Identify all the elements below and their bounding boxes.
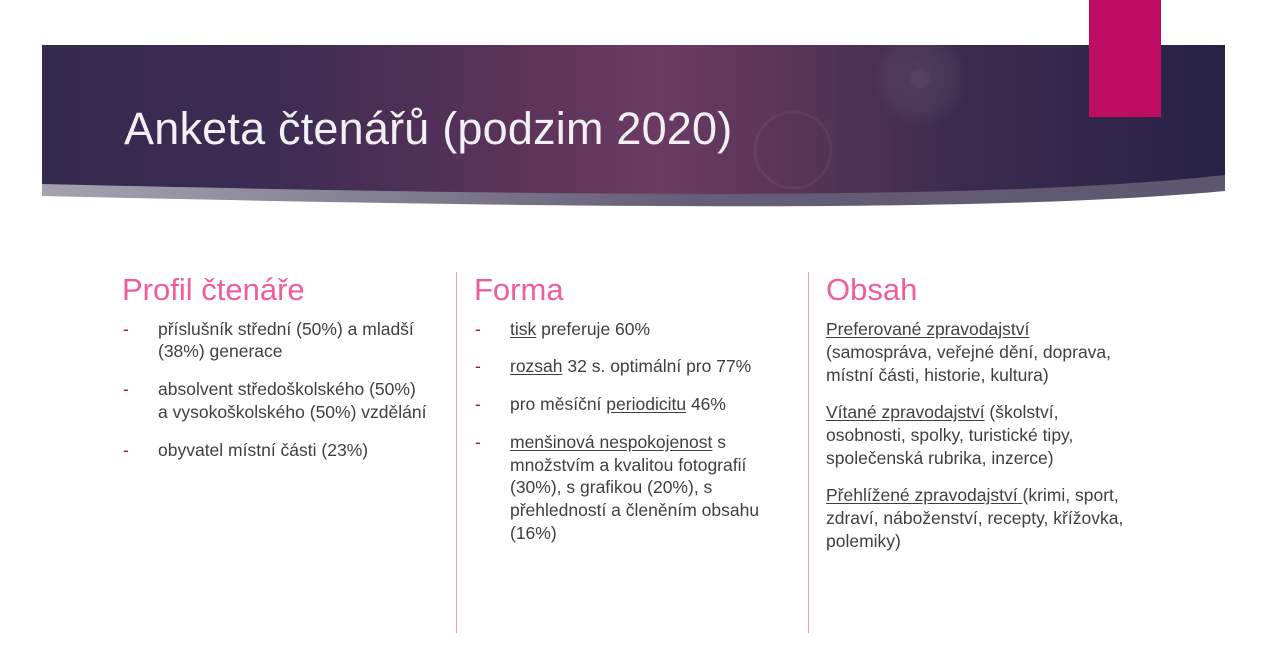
body-text: preferuje 60% bbox=[536, 319, 650, 339]
column-heading: Profil čtenáře bbox=[122, 272, 440, 308]
bullet-item: -příslušník střední (50%) a mladší (38%)… bbox=[122, 318, 440, 364]
body-text: příslušník střední (50%) a mladší (38%) … bbox=[158, 319, 414, 362]
column-divider-2 bbox=[808, 272, 809, 633]
body-text: a vysokoškolského (50%) vzdělání bbox=[158, 402, 426, 422]
column-divider-1 bbox=[456, 272, 457, 633]
body-text: 46% bbox=[686, 394, 726, 414]
column-heading: Forma bbox=[474, 272, 794, 308]
bullet-item: -rozsah 32 s. optimální pro 77% bbox=[474, 355, 794, 378]
banner-swoosh bbox=[42, 148, 1225, 206]
paragraph-list: Preferované zpravodajství (samospráva, v… bbox=[826, 318, 1126, 554]
bullet-item: -absolvent středoškolského (50%)a vysoko… bbox=[122, 378, 440, 424]
body-text: (samospráva, veřejné dění, doprava, míst… bbox=[826, 342, 1111, 385]
content-paragraph: Preferované zpravodajství (samospráva, v… bbox=[826, 318, 1126, 387]
bullet-dash-icon: - bbox=[123, 439, 129, 462]
emphasis-text: tisk bbox=[510, 319, 536, 339]
emphasis-text: menšinová nespokojenost bbox=[510, 432, 712, 452]
bullet-item: -pro měsíční periodicitu 46% bbox=[474, 393, 794, 416]
magenta-accent-bar bbox=[1089, 0, 1161, 117]
bullet-list: -příslušník střední (50%) a mladší (38%)… bbox=[122, 318, 440, 462]
slide: Anketa čtenářů (podzim 2020) Profil čten… bbox=[0, 0, 1267, 655]
column-heading: Obsah bbox=[826, 272, 1126, 308]
emphasis-text: periodicitu bbox=[606, 394, 686, 414]
bullet-list: -tisk preferuje 60%-rozsah 32 s. optimál… bbox=[474, 318, 794, 545]
emphasis-text: rozsah bbox=[510, 356, 563, 376]
bullet-dash-icon: - bbox=[123, 318, 129, 341]
emphasis-text: Přehlížené zpravodajství bbox=[826, 485, 1023, 505]
bullet-dash-icon: - bbox=[475, 431, 481, 454]
body-text: pro měsíční bbox=[510, 394, 606, 414]
bullet-dash-icon: - bbox=[475, 355, 481, 378]
bullet-item: -obyvatel místní části (23%) bbox=[122, 439, 440, 462]
body-text: 32 s. optimální pro 77% bbox=[563, 356, 752, 376]
content-paragraph: Vítané zpravodajství (školství, osobnost… bbox=[826, 401, 1126, 470]
bullet-item: -tisk preferuje 60% bbox=[474, 318, 794, 341]
bullet-item: -menšinová nespokojenost s množstvím a k… bbox=[474, 431, 794, 545]
emphasis-text: Vítané zpravodajství bbox=[826, 402, 985, 422]
slide-title: Anketa čtenářů (podzim 2020) bbox=[124, 105, 732, 152]
emphasis-text: Preferované zpravodajství bbox=[826, 319, 1029, 339]
body-text: absolvent středoškolského (50%) bbox=[158, 379, 416, 399]
content-paragraph: Přehlížené zpravodajství (krimi, sport, … bbox=[826, 484, 1126, 553]
bullet-dash-icon: - bbox=[123, 378, 129, 401]
column-forma: Forma -tisk preferuje 60%-rozsah 32 s. o… bbox=[474, 272, 794, 545]
bullet-dash-icon: - bbox=[475, 393, 481, 416]
column-profil-ctenare: Profil čtenáře -příslušník střední (50%)… bbox=[122, 272, 440, 461]
content-columns: Profil čtenáře -příslušník střední (50%)… bbox=[0, 272, 1267, 642]
bullet-dash-icon: - bbox=[475, 318, 481, 341]
column-obsah: Obsah Preferované zpravodajství (samospr… bbox=[826, 272, 1126, 553]
body-text: obyvatel místní části (23%) bbox=[158, 440, 368, 460]
